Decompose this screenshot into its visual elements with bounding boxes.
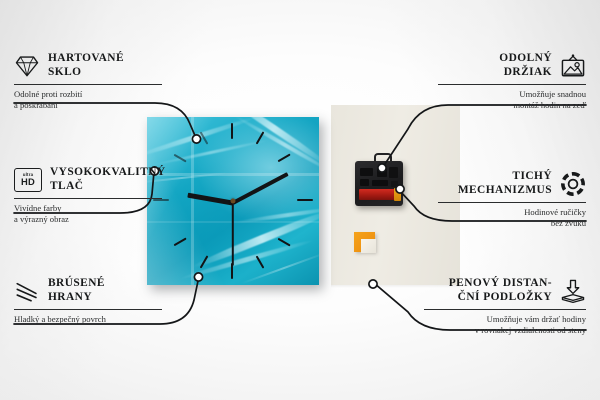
feature-divider xyxy=(14,84,162,85)
feature-divider xyxy=(14,198,162,199)
connector-dot-edges xyxy=(194,273,202,281)
feature-title: VYSOKOKVALITNÝ TLAČ xyxy=(50,166,166,193)
feature-high-quality-print: ultra HD VYSOKOKVALITNÝ TLAČ Vivídne far… xyxy=(14,166,162,224)
picture-frame-icon xyxy=(560,53,586,79)
feature-title: BRÚSENÉ HRANY xyxy=(48,277,105,304)
feature-head: BRÚSENÉ HRANY xyxy=(14,277,162,304)
feature-silent-mechanism: TICHÝ MECHANIZMUS Hodinové ručičky bez z… xyxy=(438,170,586,228)
connector-holder xyxy=(383,105,586,167)
feature-desc: Umožňuje snadnou montáž hodin na zeď xyxy=(438,89,586,110)
feature-head: ultra HD VYSOKOKVALITNÝ TLAČ xyxy=(14,166,162,193)
gear-icon xyxy=(560,171,586,197)
feature-divider xyxy=(438,84,586,85)
feature-divider xyxy=(14,309,162,310)
feature-title: HARTOVANÉ SKLO xyxy=(48,52,124,79)
feature-head: ODOLNÝ DRŽIAK xyxy=(438,52,586,79)
feature-divider xyxy=(438,202,586,203)
feature-title: ODOLNÝ DRŽIAK xyxy=(499,52,552,79)
feature-desc: Hodinové ručičky bez zvuku xyxy=(438,207,586,228)
feature-desc: Hladký a bezpečný povrch xyxy=(14,314,162,325)
feature-head: PENOVÝ DISTAN- ČNÍ PODLOŽKY xyxy=(424,277,586,304)
connector-dot-foam xyxy=(369,280,377,288)
feature-durable-holder: ODOLNÝ DRŽIAK Umožňuje snadnou montáž ho… xyxy=(438,52,586,110)
feature-title: TICHÝ MECHANIZMUS xyxy=(458,170,552,197)
diamond-icon xyxy=(14,53,40,79)
feature-head: TICHÝ MECHANIZMUS xyxy=(438,170,586,197)
feature-foam-spacers: PENOVÝ DISTAN- ČNÍ PODLOŽKY Umožňuje vám… xyxy=(424,277,586,335)
feature-desc: Odolné proti rozbití a poškrábání xyxy=(14,89,162,110)
infographic-canvas: HARTOVANÉ SKLO Odolné proti rozbití a po… xyxy=(0,0,600,400)
feature-head: HARTOVANÉ SKLO xyxy=(14,52,162,79)
connector-dot-tempered-glass xyxy=(192,135,200,143)
feature-desc: Vivídne farby a výrazný obraz xyxy=(14,203,162,224)
feature-polished-edges: BRÚSENÉ HRANY Hladký a bezpečný povrch xyxy=(14,277,162,325)
feature-title: PENOVÝ DISTAN- ČNÍ PODLOŽKY xyxy=(449,277,552,304)
ultra-hd-badge-main: HD xyxy=(21,177,35,186)
connector-dot-mechanism xyxy=(396,185,404,193)
ultra-hd-badge-icon: ultra HD xyxy=(14,168,42,192)
arrow-onto-layers-icon xyxy=(560,278,586,304)
feature-divider xyxy=(424,309,586,310)
connector-dot-holder xyxy=(378,164,386,172)
feature-tempered-glass: HARTOVANÉ SKLO Odolné proti rozbití a po… xyxy=(14,52,162,110)
diagonal-lines-icon xyxy=(14,278,40,304)
feature-desc: Umožňuje vám držať hodiny v rovnakej vzd… xyxy=(424,314,586,335)
